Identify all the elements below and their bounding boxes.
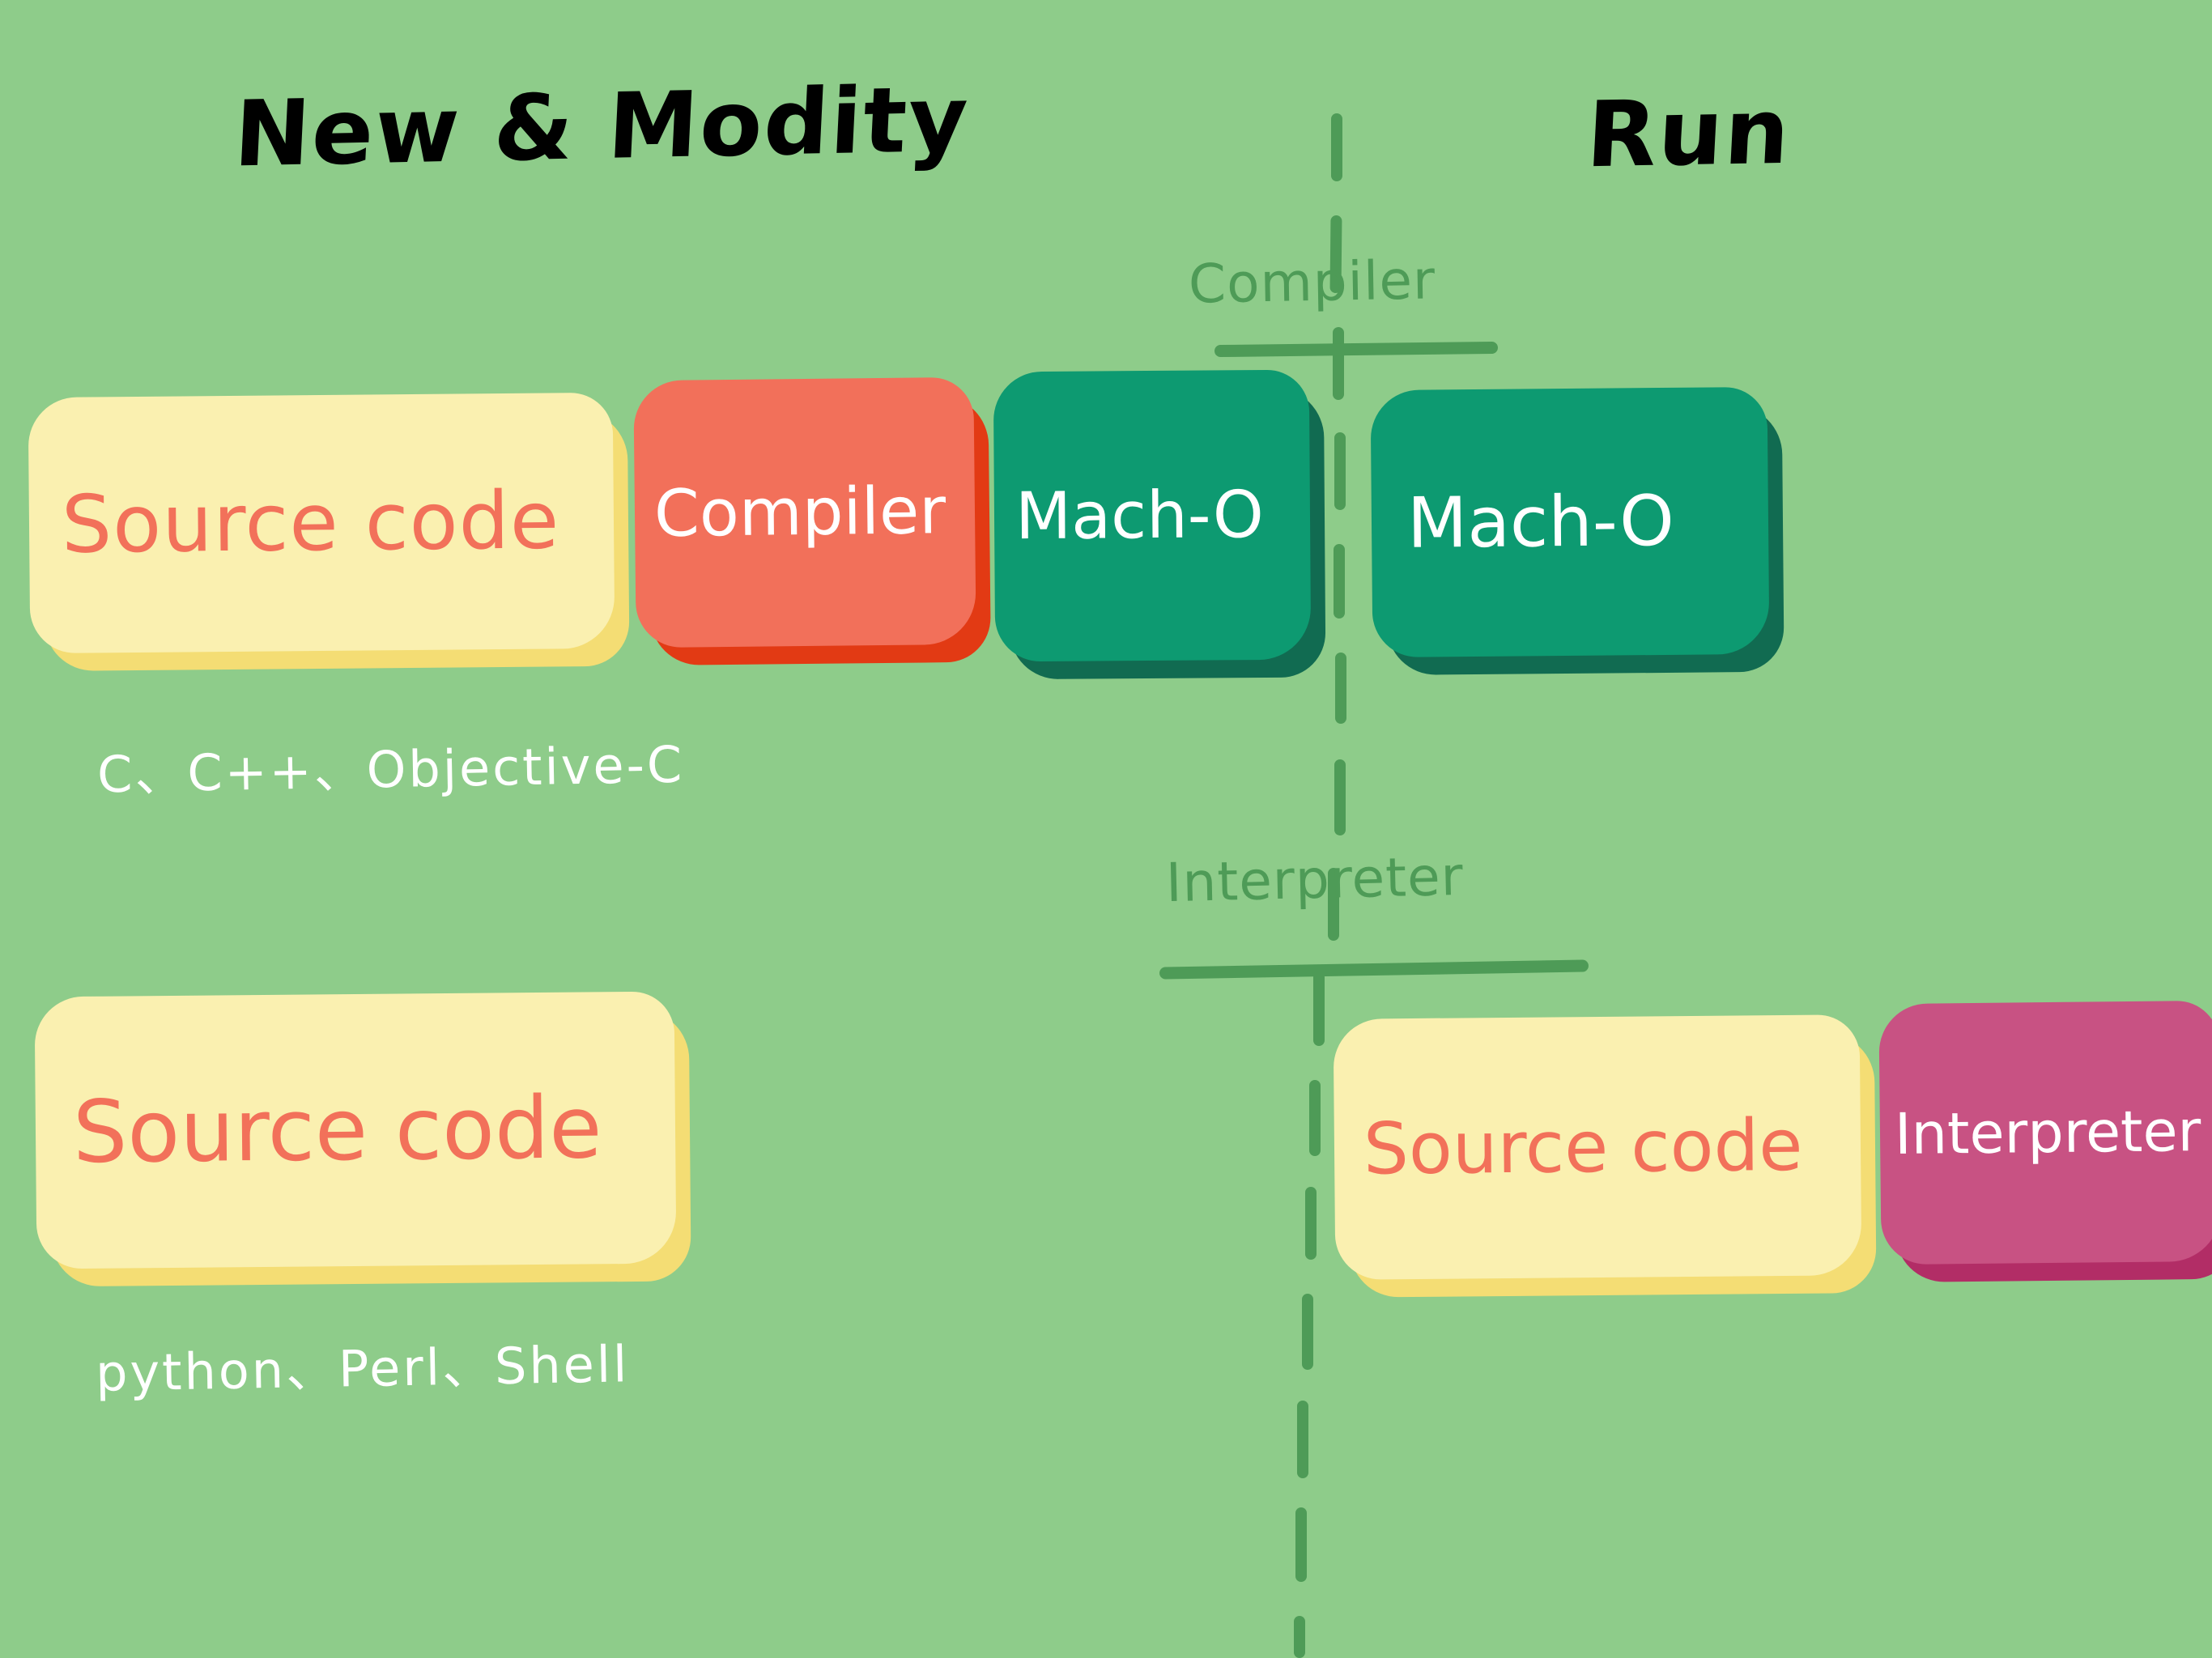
card-label: Compiler <box>635 478 976 546</box>
footnote-interpreted-languages: python、Perl、Shell <box>95 1323 630 1405</box>
divider-dash <box>1295 1507 1307 1582</box>
heading-new-and-modify: New & Modity <box>232 67 972 188</box>
card-label: Interpreter <box>1880 1103 2212 1163</box>
annotation-compiler-label: Compiler <box>1188 249 1436 315</box>
card-label: Source code <box>29 481 615 565</box>
footnote-compiled-languages: C、C++、Objective-C <box>96 724 685 807</box>
divider-dash <box>1334 759 1346 835</box>
card-label: Source code <box>36 1085 676 1176</box>
divider-dash <box>1309 1080 1321 1156</box>
divider-dash <box>1335 653 1346 724</box>
card-source-code-interpreted-left[interactable]: Source code <box>35 992 677 1269</box>
divider-dash <box>1305 1187 1317 1260</box>
card-source-code-compiled[interactable]: Source code <box>28 393 615 653</box>
divider-dash <box>1333 327 1344 400</box>
diagram-canvas: New & Modity Run Compiler Interpreter So… <box>0 0 2212 1658</box>
card-macho-compiled-right[interactable]: Mach-O <box>1371 387 1770 657</box>
heading-run: Run <box>1584 79 1793 188</box>
annotation-compiler-underline <box>1214 342 1498 357</box>
annotation-interpreter-underline <box>1159 959 1589 979</box>
divider-dash <box>1302 1294 1313 1370</box>
card-macho-compiled-left[interactable]: Mach-O <box>993 370 1311 662</box>
divider-dash <box>1297 1401 1308 1478</box>
card-compiler[interactable]: Compiler <box>633 377 976 648</box>
card-label: Mach-O <box>994 483 1311 550</box>
card-source-code-interpreted-right[interactable]: Source code <box>1334 1014 1862 1280</box>
annotation-interpreter-label: Interpreter <box>1165 845 1464 914</box>
divider-dash <box>1334 544 1345 619</box>
card-label: Mach-O <box>1372 486 1769 559</box>
divider-dash <box>1313 971 1325 1046</box>
divider-dash <box>1294 1616 1305 1658</box>
card-label: Source code <box>1334 1109 1861 1185</box>
card-interpreter[interactable]: Interpreter <box>1878 1001 2212 1265</box>
divider-dash <box>1334 432 1346 510</box>
divider-dash <box>1331 113 1342 181</box>
